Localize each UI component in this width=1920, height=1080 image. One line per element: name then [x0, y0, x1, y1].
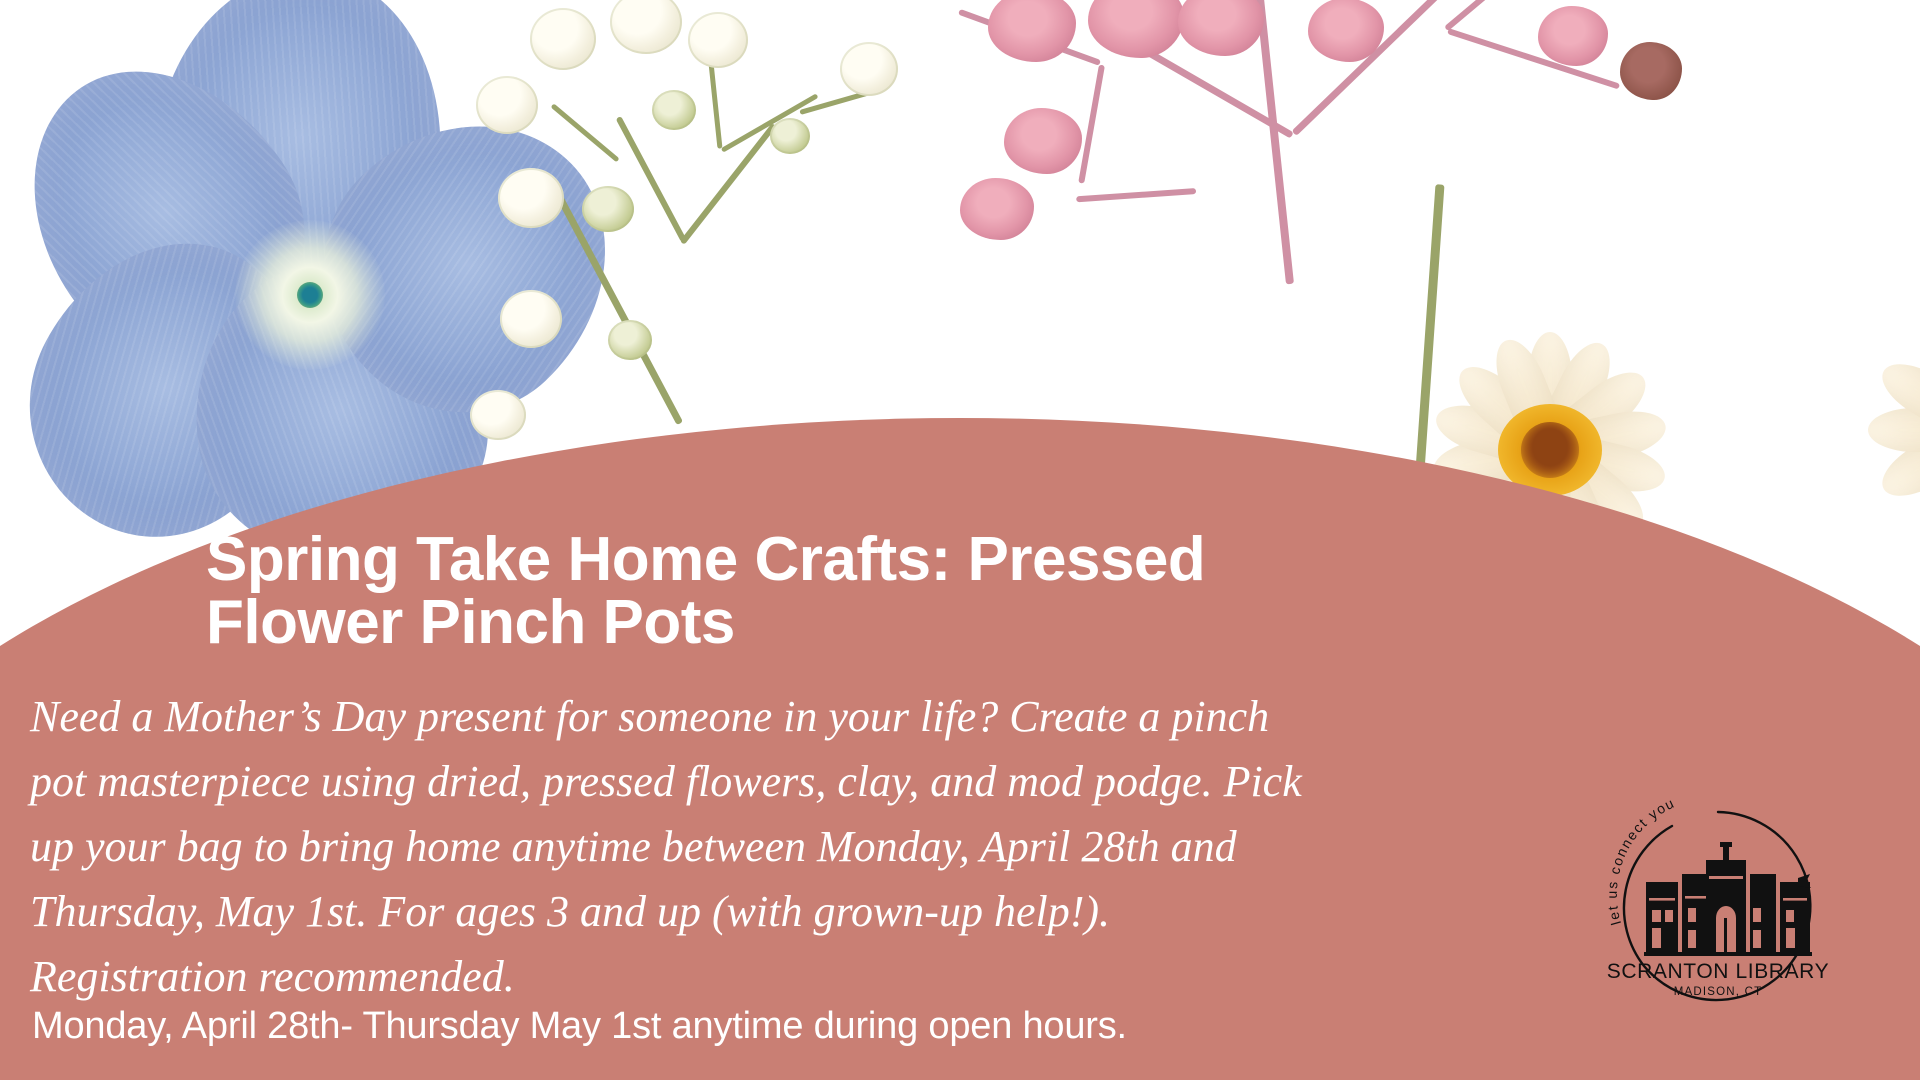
page-title: Spring Take Home Crafts: Pressed Flower … [206, 528, 1506, 654]
description-line-3: up your bag to bring home anytime betwee… [30, 814, 1500, 879]
description-line-1: Need a Mother’s Day present for someone … [30, 684, 1500, 749]
headline-line-2: Flower Pinch Pots [206, 591, 1506, 654]
headline-line-1: Spring Take Home Crafts: Pressed [206, 528, 1506, 591]
event-hours: Monday, April 28th- Thursday May 1st any… [32, 1006, 1432, 1048]
description-line-5: Registration recommended. [30, 944, 1500, 1009]
flyer-content: Spring Take Home Crafts: Pressed Flower … [0, 0, 1920, 1080]
logo-location: MADISON, CT [1674, 986, 1763, 998]
description-line-4: Thursday, May 1st. For ages 3 and up (wi… [30, 879, 1500, 944]
scranton-library-logo: let us connect you [1602, 790, 1834, 1022]
library-building-icon [1644, 842, 1812, 956]
logo-name: SCRANTON LIBRARY [1607, 960, 1829, 983]
description-line-2: pot masterpiece using dried, pressed flo… [30, 749, 1500, 814]
flyer-canvas: Spring Take Home Crafts: Pressed Flower … [0, 0, 1920, 1080]
event-description: Need a Mother’s Day present for someone … [30, 684, 1500, 1010]
